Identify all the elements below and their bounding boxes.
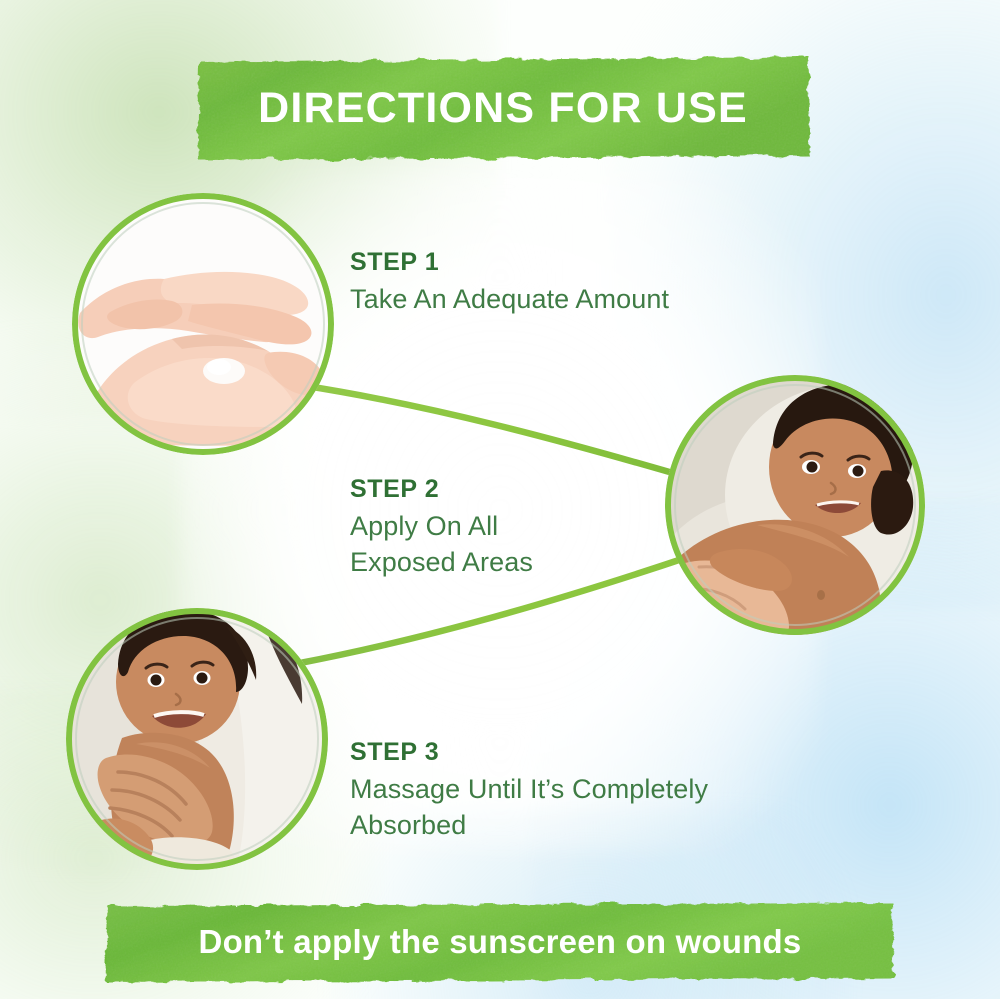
- step-1-photo-circle: [72, 193, 334, 455]
- step-2-description: Apply On All Exposed Areas: [350, 509, 533, 580]
- footer-banner: Don’t apply the sunscreen on wounds: [100, 896, 900, 988]
- step-3-description-line-2: Absorbed: [350, 808, 708, 844]
- connector-step1-to-step2: [300, 385, 690, 478]
- baby-lying-down-photo: [665, 375, 925, 635]
- step-3-description-line-1: Massage Until It’s Completely: [350, 772, 708, 808]
- step-3-title: STEP 3: [350, 738, 708, 767]
- title-banner: DIRECTIONS FOR USE: [190, 48, 816, 168]
- step-1-text-block: STEP 1 Take An Adequate Amount: [350, 248, 669, 318]
- step-2-text-block: STEP 2 Apply On All Exposed Areas: [350, 475, 533, 580]
- step-1-description: Take An Adequate Amount: [350, 282, 669, 318]
- footer-banner-label: Don’t apply the sunscreen on wounds: [199, 923, 802, 961]
- step-3-photo-circle: [66, 608, 328, 870]
- step-3-description: Massage Until It’s Completely Absorbed: [350, 772, 708, 843]
- step-1-title: STEP 1: [350, 248, 669, 277]
- step-2-description-line-1: Apply On All: [350, 509, 533, 545]
- step-2-photo-circle: [665, 375, 925, 635]
- smiling-baby-photo: [66, 608, 328, 870]
- step-2-description-line-2: Exposed Areas: [350, 545, 533, 581]
- hands-applying-cream-photo: [72, 193, 334, 455]
- step-3-text-block: STEP 3 Massage Until It’s Completely Abs…: [350, 738, 708, 843]
- directions-for-use-poster: DIRECTIONS FOR USE: [0, 0, 1000, 999]
- title-banner-label: DIRECTIONS FOR USE: [258, 84, 748, 133]
- step-2-title: STEP 2: [350, 475, 533, 504]
